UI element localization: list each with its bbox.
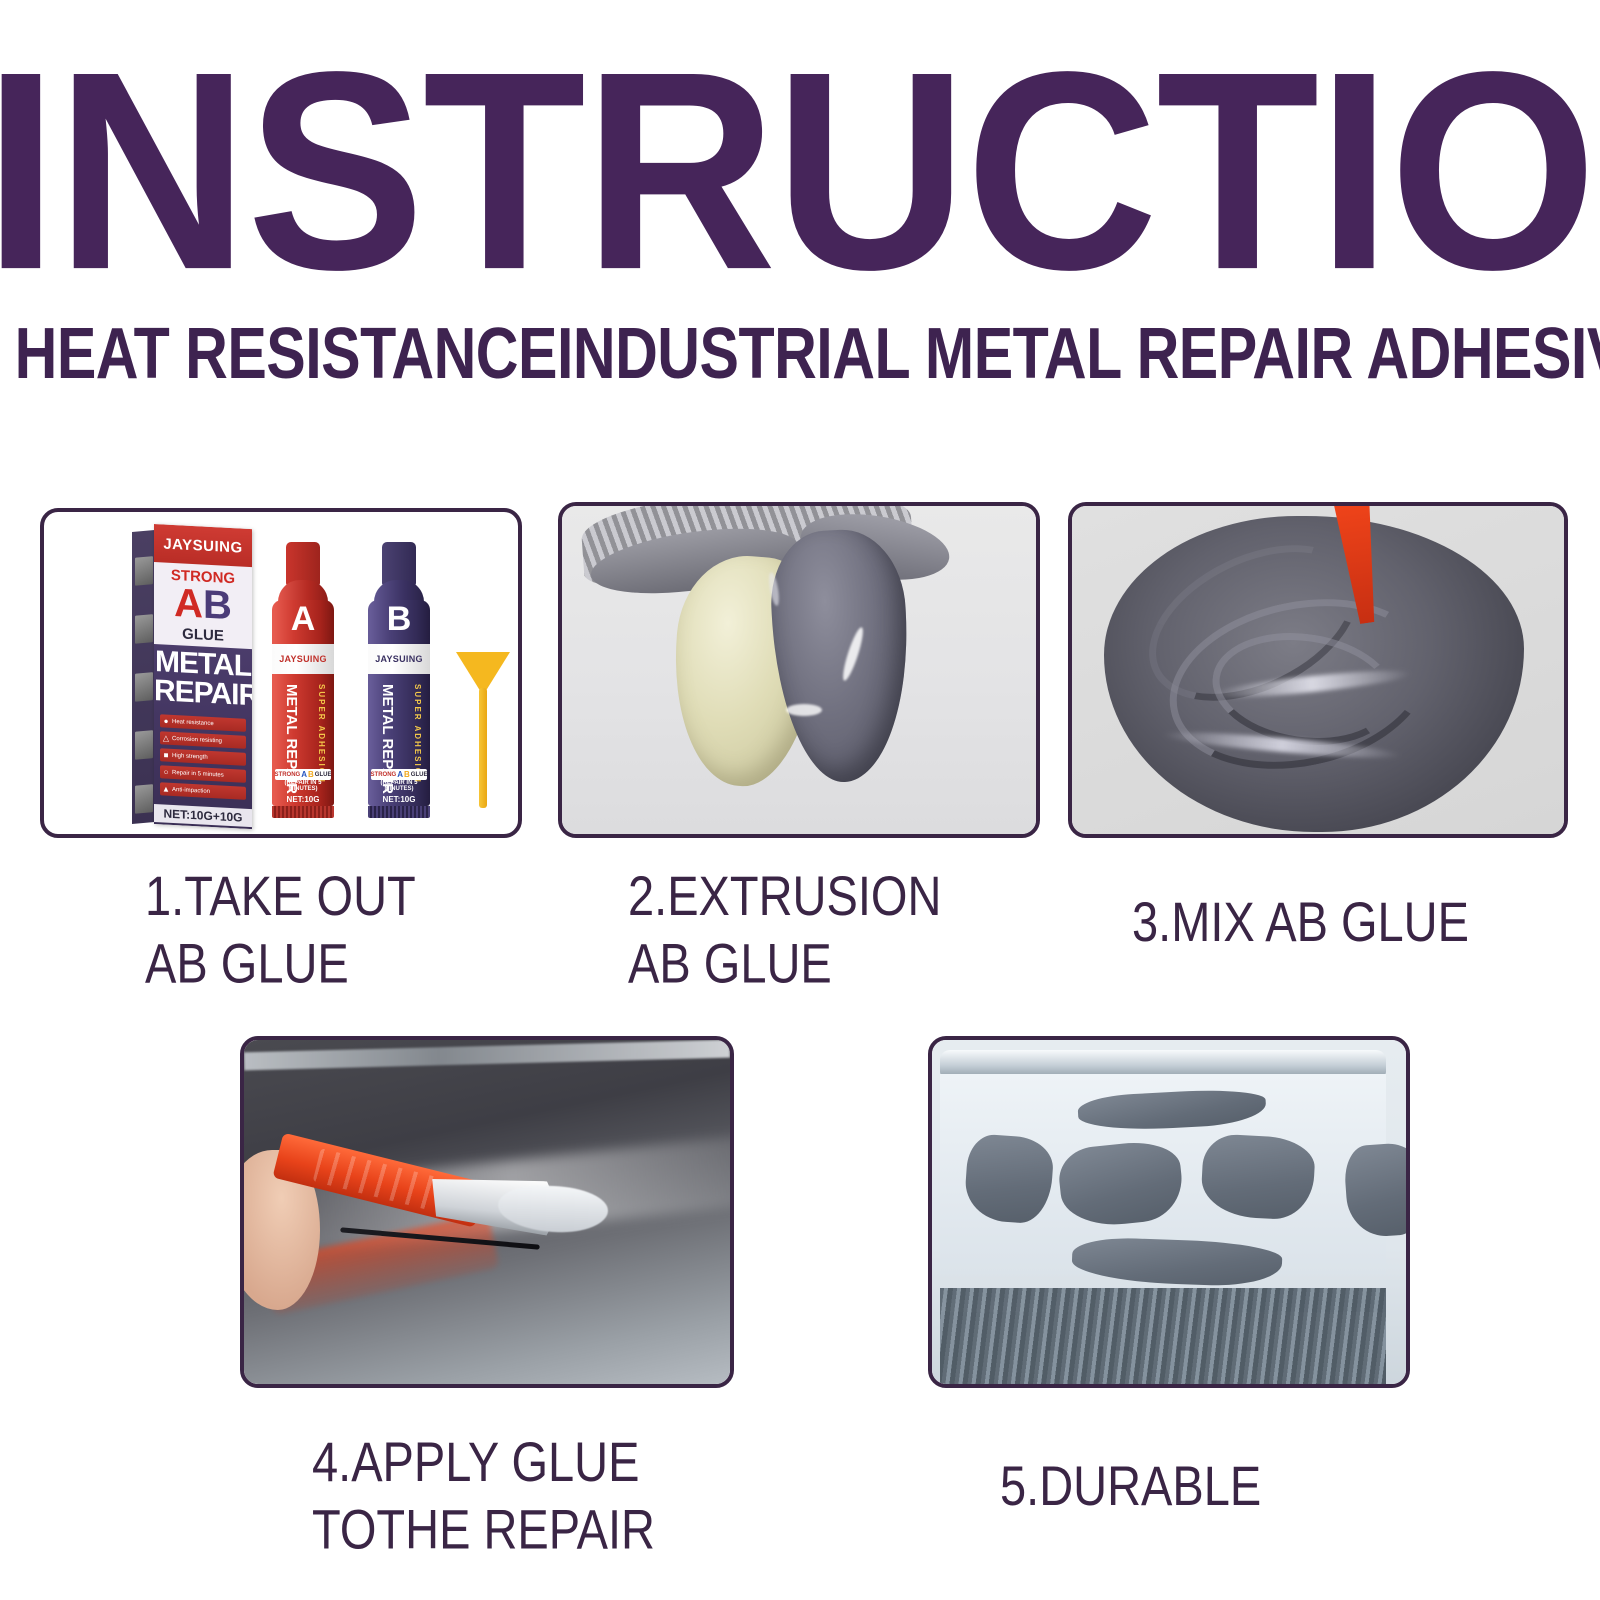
product-box: JAYSUING STRONG AB GLUE METAL REPAIR ● H…	[132, 524, 252, 826]
step-2-image-card	[558, 502, 1040, 838]
box-side-panel	[132, 530, 156, 824]
feature-row: ▲ Anti-impaction	[160, 782, 246, 800]
box-feature-list: ● Heat resistance △ Corrosion resisting …	[160, 714, 246, 804]
applying-glue-with-spatula-photo	[244, 1040, 730, 1384]
repaired-metal-tray-photo	[932, 1040, 1406, 1384]
feature-row: ○ Repair in 5 minutes	[160, 765, 246, 783]
tube-body: A JAYSUING METAL REPAIR SUPER ADHESION S…	[272, 600, 334, 806]
step-4-image-card	[240, 1036, 734, 1388]
tube-crimp	[368, 806, 430, 818]
box-letter-a: A	[174, 581, 203, 627]
highlight	[786, 704, 822, 716]
step-3-caption: 3.MIX AB GLUE	[1132, 888, 1572, 956]
feature-row: △ Corrosion resisting	[160, 731, 246, 749]
product-box-and-tubes-photo: JAYSUING STRONG AB GLUE METAL REPAIR ● H…	[44, 512, 518, 834]
box-repair-line: REPAIR	[154, 677, 252, 711]
step-2-caption: 2.EXTRUSION AB GLUE	[628, 862, 1048, 997]
glue-tube-b: B JAYSUING METAL REPAIR SUPER ADHESION S…	[366, 542, 432, 814]
feature-label: Repair in 5 minutes	[172, 769, 224, 778]
clock-icon: ○	[160, 767, 172, 777]
tube-strong-ab-glue-bar: STRONG A B GLUE	[275, 769, 331, 780]
tube-repair-time-label: (REPAIR IN 5 MINUTES)	[275, 780, 331, 792]
feature-label: High strength	[172, 752, 208, 760]
tube-a-letter: A	[301, 770, 307, 779]
yellow-spatula-icon	[456, 652, 512, 812]
box-side-thumb	[135, 672, 153, 702]
corrosion-icon: △	[160, 733, 172, 743]
tube-strong-ab-glue-bar: STRONG A B GLUE	[371, 769, 427, 780]
tube-repair-time-label: (REPAIR IN 5 MINUTES)	[371, 780, 427, 792]
box-brand-banner: JAYSUING	[154, 524, 252, 567]
step-4-caption: 4.APPLY GLUE TOTHE REPAIR	[312, 1428, 732, 1563]
feature-label: Heat resistance	[172, 718, 214, 726]
feature-label: Anti-impaction	[172, 786, 210, 794]
hammer-icon: ▲	[160, 784, 172, 794]
tube-b-letter: B	[308, 770, 314, 779]
tray-rim	[940, 1050, 1386, 1076]
spatula-handle	[479, 688, 487, 808]
box-ab-label: AB	[154, 582, 252, 627]
step-3-image-card	[1068, 502, 1568, 838]
tube-brand-band: JAYSUING	[272, 644, 334, 674]
box-brand-label: JAYSUING	[163, 535, 242, 556]
tube-brand-label: JAYSUING	[375, 654, 423, 664]
tube-net-label: NET:10G	[275, 795, 331, 804]
mixed-gray-putty-photo	[1072, 506, 1564, 834]
box-side-thumb	[135, 730, 153, 760]
step-5-image-card	[928, 1036, 1410, 1388]
tube-body: B JAYSUING METAL REPAIR SUPER ADHESION S…	[368, 600, 430, 806]
step-1-caption: 1.TAKE OUT AB GLUE	[145, 862, 545, 997]
tube-crimp	[272, 806, 334, 818]
box-front-face: JAYSUING STRONG AB GLUE METAL REPAIR ● H…	[154, 524, 252, 829]
glue-tube-a: A JAYSUING METAL REPAIR SUPER ADHESION S…	[270, 542, 336, 814]
box-side-thumb	[135, 614, 153, 644]
tube-b-letter: B	[404, 770, 410, 779]
box-side-thumb	[135, 784, 153, 814]
box-side-thumb	[135, 556, 153, 586]
tube-brand-label: JAYSUING	[279, 654, 327, 664]
feature-label: Corrosion resisting	[172, 735, 222, 744]
tube-strong-label: STRONG	[275, 772, 301, 778]
box-metal-repair-label: METAL REPAIR	[154, 648, 252, 711]
page-header: INSTRUCTIONS HEAT RESISTANCEINDUSTRIAL M…	[0, 0, 1600, 420]
tube-glue-label: GLUE	[411, 772, 428, 778]
box-glue-label: GLUE	[154, 624, 252, 646]
tube-strong-label: STRONG	[371, 772, 397, 778]
feature-row: ■ High strength	[160, 748, 246, 766]
tube-letter: A	[272, 602, 334, 636]
step-5-caption: 5.DURABLE	[1000, 1452, 1380, 1520]
extruding-two-glue-beads-photo	[562, 506, 1036, 834]
tube-glue-label: GLUE	[315, 772, 332, 778]
page-subtitle: HEAT RESISTANCEINDUSTRIAL METAL REPAIR A…	[15, 318, 1586, 391]
page-title: INSTRUCTIONS	[0, 52, 1600, 292]
flame-icon: ●	[160, 716, 172, 726]
step-1-image-card: JAYSUING STRONG AB GLUE METAL REPAIR ● H…	[40, 508, 522, 838]
box-letter-b: B	[203, 583, 232, 629]
tube-a-letter: A	[397, 770, 403, 779]
tube-letter: B	[368, 602, 430, 636]
tube-net-label: NET:10G	[371, 795, 427, 804]
tray-textured-base	[940, 1288, 1386, 1384]
tube-brand-band: JAYSUING	[368, 644, 430, 674]
spatula-head	[456, 652, 510, 692]
strength-icon: ■	[160, 750, 172, 760]
